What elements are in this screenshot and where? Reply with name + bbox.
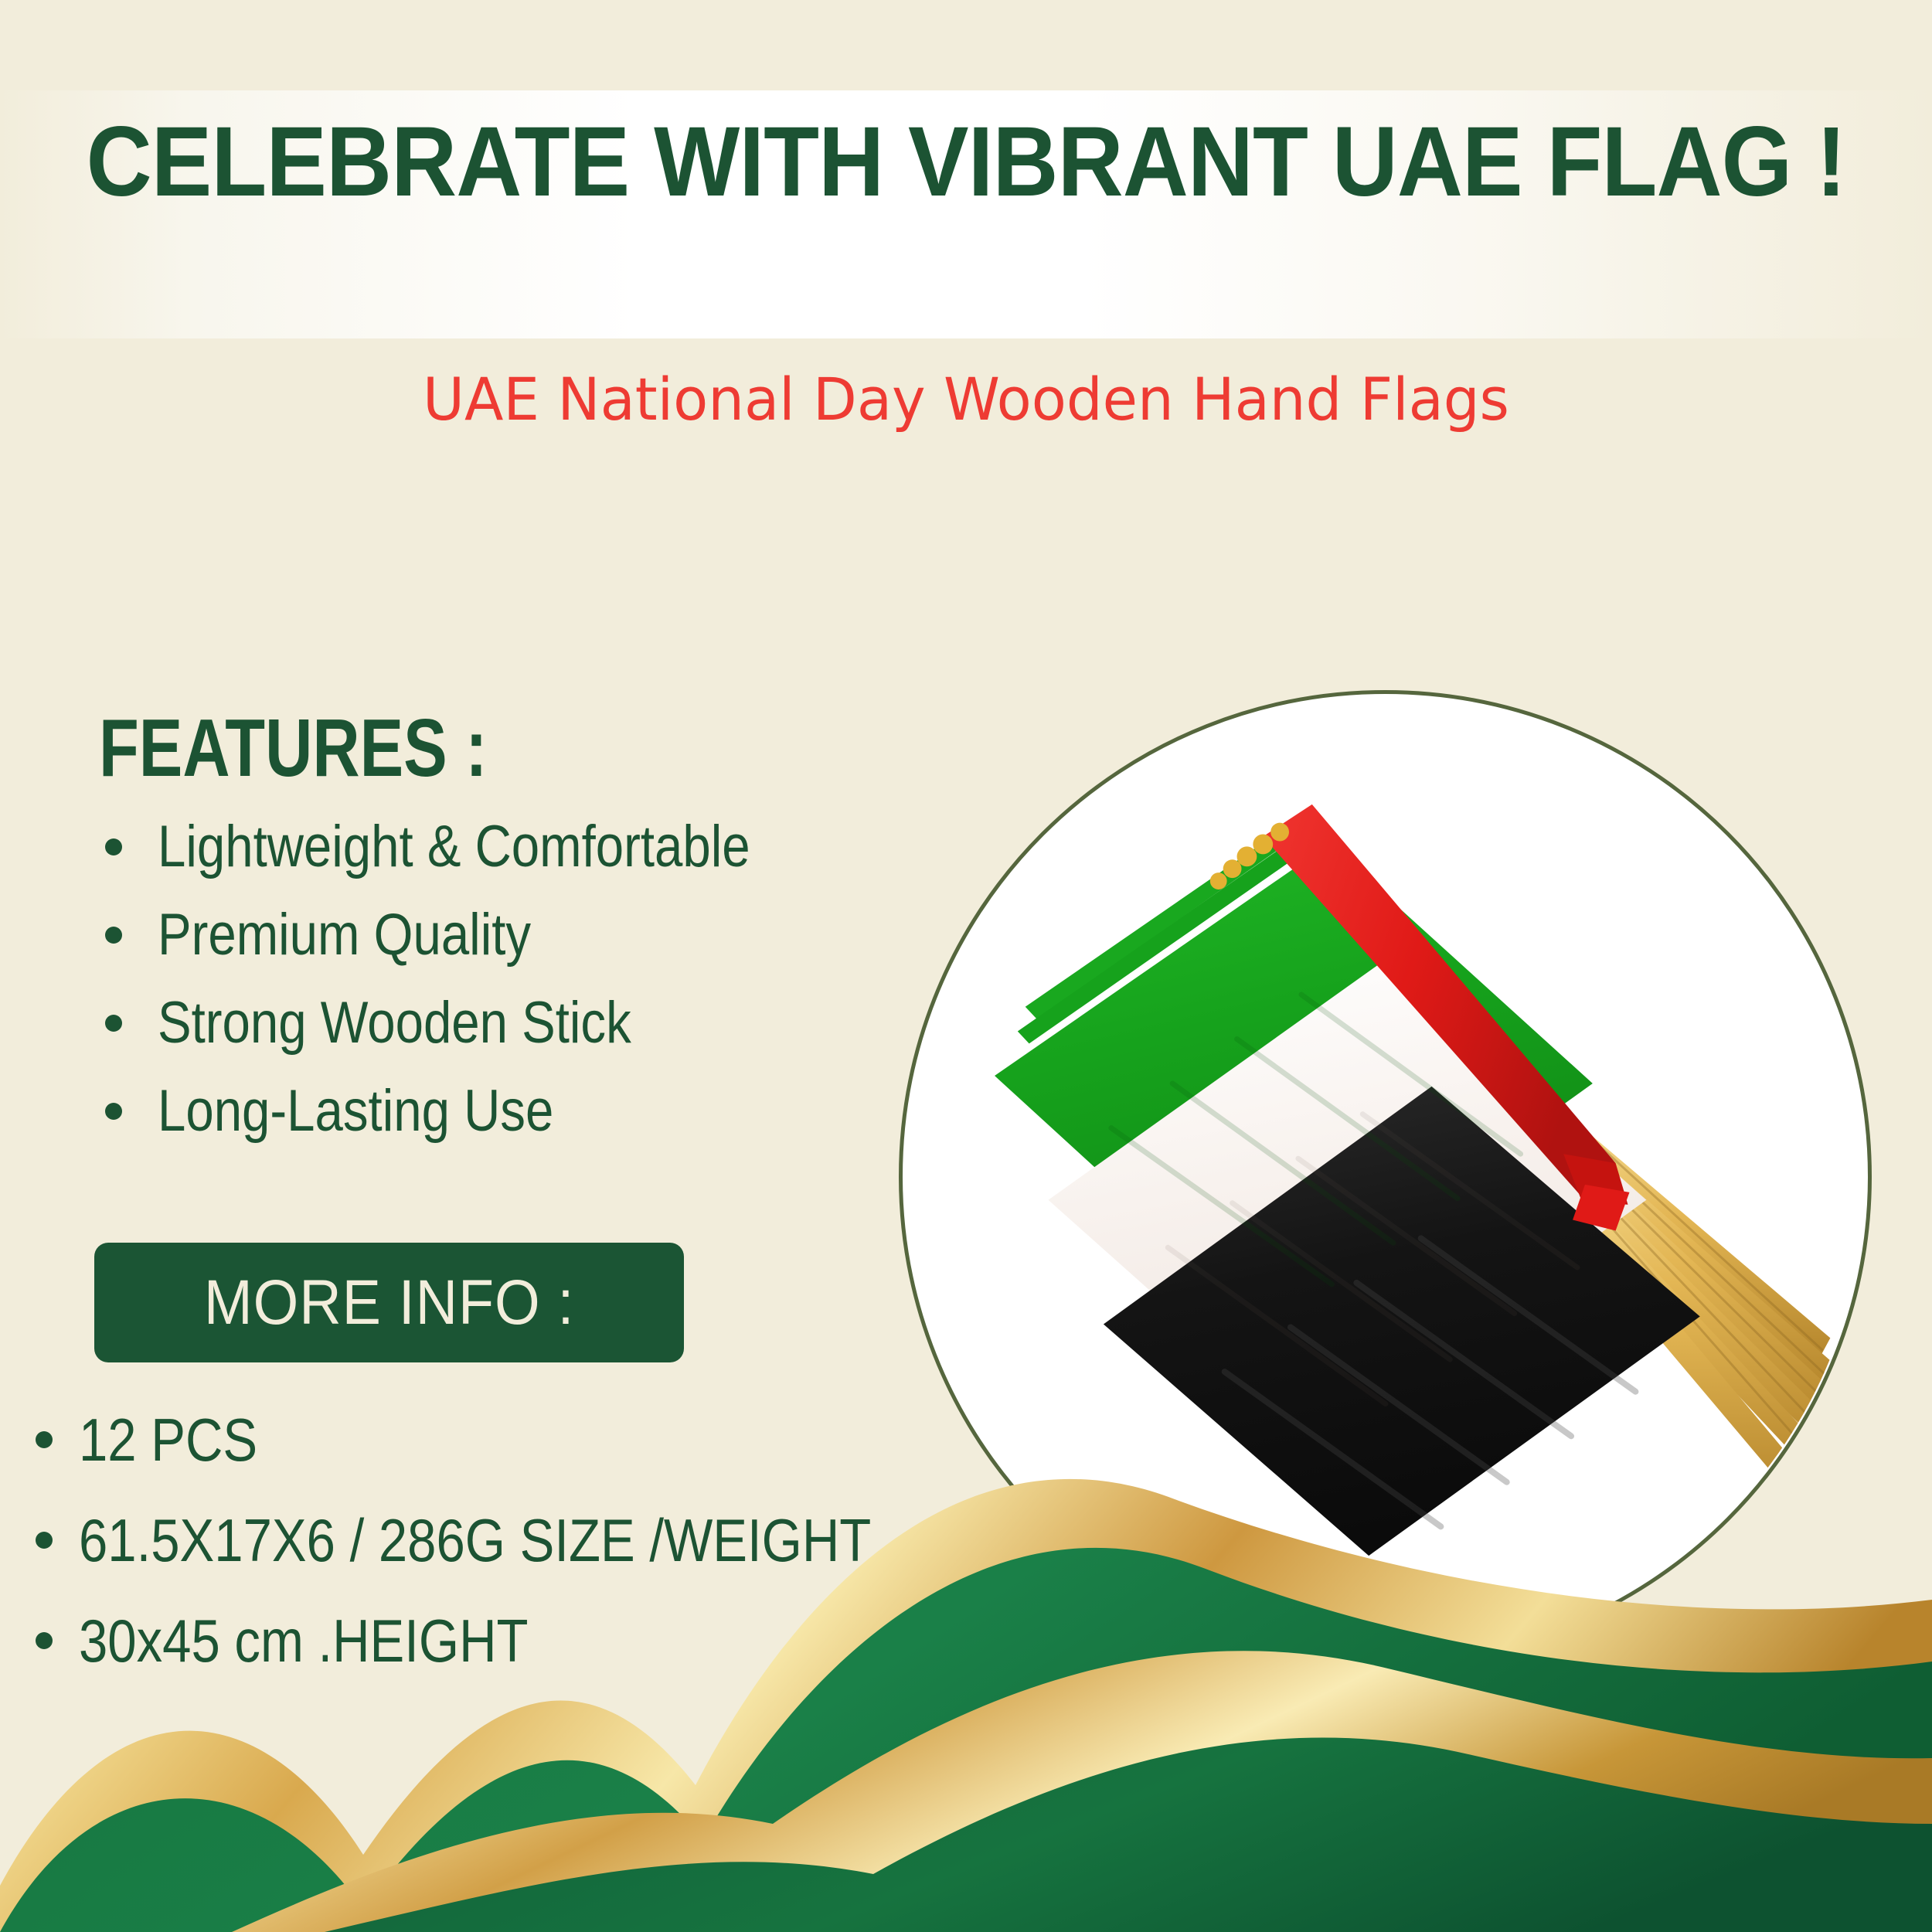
info-label: 12 PCS bbox=[79, 1410, 257, 1470]
features-heading: FEATURES : bbox=[99, 707, 488, 789]
list-item: Long-Lasting Use bbox=[91, 1082, 980, 1141]
more-info-badge: MORE INFO : bbox=[94, 1243, 684, 1362]
list-item: Strong Wooden Stick bbox=[91, 994, 980, 1053]
bullet-icon bbox=[105, 927, 122, 944]
info-label: 61.5X17X6 / 286G SIZE /WEIGHT bbox=[79, 1510, 871, 1570]
bullet-icon bbox=[36, 1632, 53, 1649]
list-item: Lightweight & Comfortable bbox=[91, 818, 980, 876]
product-image-circle bbox=[899, 690, 1872, 1663]
page-subtitle: UAE National Day Wooden Hand Flags bbox=[29, 365, 1903, 434]
product-flag-illustration bbox=[903, 694, 1868, 1659]
feature-label: Strong Wooden Stick bbox=[158, 994, 631, 1053]
bullet-icon bbox=[36, 1431, 53, 1448]
bullet-icon bbox=[36, 1532, 53, 1549]
info-label: 30x45 cm .HEIGHT bbox=[79, 1611, 529, 1671]
poster-canvas: CELEBRATE WITH VIBRANT UAE FLAG ! UAE Na… bbox=[0, 0, 1932, 1932]
ribbon-green-lower bbox=[325, 1738, 1932, 1932]
feature-label: Premium Quality bbox=[158, 906, 531, 964]
features-list: Lightweight & Comfortable Premium Qualit… bbox=[91, 818, 980, 1170]
feature-label: Lightweight & Comfortable bbox=[158, 818, 750, 876]
page-title: CELEBRATE WITH VIBRANT UAE FLAG ! bbox=[77, 111, 1855, 214]
list-item: Premium Quality bbox=[91, 906, 980, 964]
feature-label: Long-Lasting Use bbox=[158, 1082, 553, 1141]
bullet-icon bbox=[105, 1103, 122, 1120]
more-info-label: MORE INFO : bbox=[204, 1267, 575, 1339]
bullet-icon bbox=[105, 838, 122, 855]
bullet-icon bbox=[105, 1015, 122, 1032]
